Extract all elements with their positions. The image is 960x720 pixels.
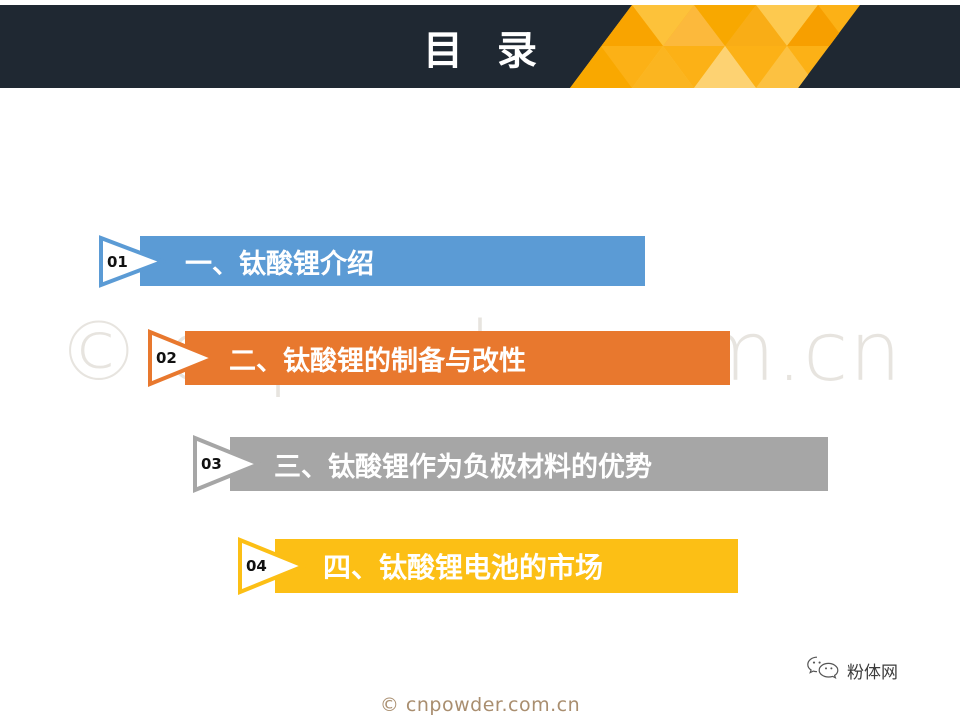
wechat-icon	[806, 655, 840, 685]
toc-badge-number: 03	[192, 435, 262, 493]
slide-header: 目 录	[0, 5, 960, 88]
toc-item-02[interactable]: 二、钛酸锂的制备与改性	[185, 331, 730, 385]
toc-badge-number: 04	[237, 537, 307, 595]
toc-item-label: 二、钛酸锂的制备与改性	[229, 339, 526, 378]
toc-item-04[interactable]: 四、钛酸锂电池的市场	[275, 539, 738, 593]
toc-item-bar: 一、钛酸锂介绍	[140, 236, 645, 286]
toc-item-03[interactable]: 三、钛酸锂作为负极材料的优势	[230, 437, 828, 491]
page-title: 目 录	[0, 5, 960, 88]
toc-badge-01: 01	[98, 235, 166, 288]
brand-badge: 粉体网	[806, 655, 898, 685]
toc-item-label: 一、钛酸锂介绍	[185, 242, 374, 281]
toc-badge-02: 02	[147, 329, 217, 387]
slide-canvas: 目 录 © cnpowder.com.cn 一、钛酸锂介绍 01 二、钛酸锂的制…	[0, 0, 960, 720]
toc-badge-03: 03	[192, 435, 262, 493]
toc-item-bar: 二、钛酸锂的制备与改性	[185, 331, 730, 385]
toc-item-01[interactable]: 一、钛酸锂介绍	[140, 236, 645, 286]
toc-badge-number: 01	[98, 235, 166, 288]
toc-badge-number: 02	[147, 329, 217, 387]
toc-item-label: 三、钛酸锂作为负极材料的优势	[274, 445, 652, 484]
toc-item-label: 四、钛酸锂电池的市场	[323, 546, 603, 586]
toc-badge-04: 04	[237, 537, 307, 595]
toc-item-bar: 四、钛酸锂电池的市场	[275, 539, 738, 593]
toc-item-bar: 三、钛酸锂作为负极材料的优势	[230, 437, 828, 491]
footer-watermark: © cnpowder.com.cn	[0, 694, 960, 716]
brand-name: 粉体网	[847, 658, 898, 683]
